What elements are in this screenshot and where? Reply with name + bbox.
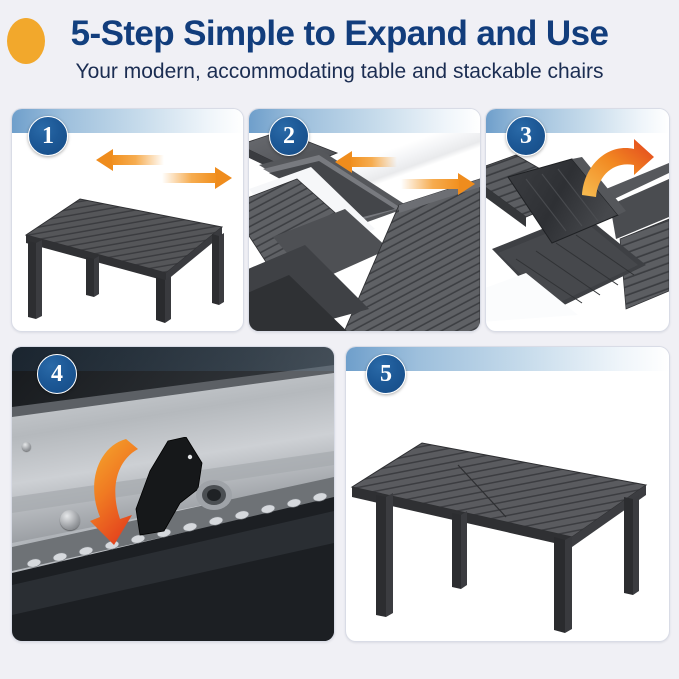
page-title: 5-Step Simple to Expand and Use [0,14,679,54]
step-panel-1: 1 [11,108,244,332]
pivot-socket [194,475,234,515]
step-number-badge-1: 1 [28,116,68,156]
table-closed-graphic [16,177,238,323]
title-text: -Step Simple to Expand and Use [90,14,609,53]
title-number: 5 [71,14,90,53]
header: 5-Step Simple to Expand and Use Your mod… [0,0,679,95]
curved-arrow-up-right-icon-3 [578,135,658,205]
step-number-badge-4: 4 [37,354,77,394]
arrow-left-icon-1 [96,149,164,171]
step-panel-4: 4 [11,346,335,642]
infographic-page: 5-Step Simple to Expand and Use Your mod… [0,0,679,679]
rivet-left [60,510,80,530]
page-subtitle: Your modern, accommodating table and sta… [0,60,679,84]
step-number-badge-2: 2 [269,116,309,156]
rivet-small [22,442,31,451]
step-panel-5: 5 [345,346,670,642]
table-extended-graphic [346,405,669,635]
arrow-left-icon-2 [335,151,397,173]
arrow-right-icon-2 [401,173,475,195]
step-panel-2: 2 [248,108,481,332]
step-number-badge-3: 3 [506,116,546,156]
step-panel-3: 3 [485,108,670,332]
expand-arrows-2 [335,151,475,197]
step-number-badge-5: 5 [366,354,406,394]
curved-arrow-down-icon-4 [80,433,160,553]
